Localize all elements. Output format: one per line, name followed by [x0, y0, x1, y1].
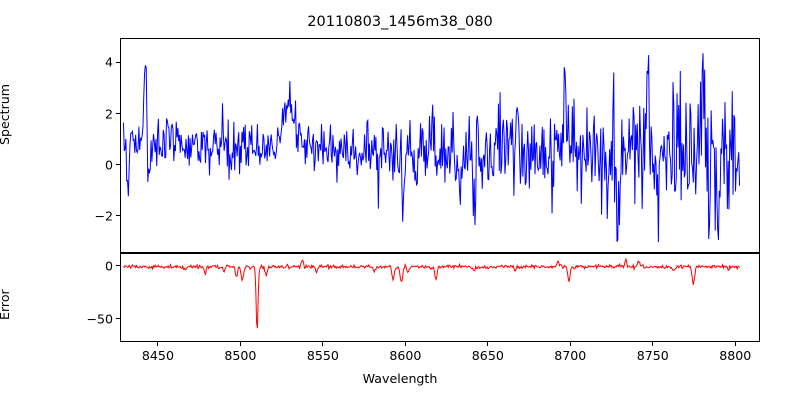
x-axis-label: Wavelength	[0, 371, 800, 386]
matplotlib-figure: 20110803_1456m38_080 420−20−508450850085…	[0, 0, 800, 400]
spectrum-ytick-label: 2	[58, 106, 113, 121]
spectrum-ytick-mark	[116, 164, 120, 165]
xtick-mark	[405, 342, 406, 346]
xtick-mark	[735, 342, 736, 346]
xtick-label: 8550	[307, 348, 339, 363]
xtick-mark	[570, 342, 571, 346]
xtick-label: 8600	[389, 348, 421, 363]
spectrum-ytick-label: 4	[58, 55, 113, 70]
xtick-label: 8650	[472, 348, 504, 363]
error-ytick-mark	[116, 265, 120, 266]
spectrum-ytick-mark	[116, 215, 120, 216]
xtick-mark	[487, 342, 488, 346]
error-ytick-mark	[116, 318, 120, 319]
xtick-label: 8700	[554, 348, 586, 363]
spectrum-y-axis-label: Spectrum	[0, 84, 12, 145]
error-ytick-label: −50	[58, 311, 113, 326]
spectrum-line-plot	[121, 39, 761, 254]
xtick-mark	[240, 342, 241, 346]
spectrum-ytick-label: 0	[58, 157, 113, 172]
xtick-label: 8450	[142, 348, 174, 363]
error-line-plot	[121, 254, 761, 343]
error-y-axis-label: Error	[0, 289, 12, 320]
spectrum-ytick-label: −2	[58, 208, 113, 223]
xtick-label: 8800	[719, 348, 751, 363]
xtick-mark	[322, 342, 323, 346]
xtick-label: 8750	[637, 348, 669, 363]
error-ytick-label: 0	[58, 258, 113, 273]
spectrum-ytick-mark	[116, 62, 120, 63]
xtick-mark	[157, 342, 158, 346]
xtick-label: 8500	[224, 348, 256, 363]
spectrum-ytick-mark	[116, 113, 120, 114]
error-axes	[120, 253, 760, 342]
xtick-mark	[652, 342, 653, 346]
spectrum-axes	[120, 38, 760, 253]
figure-title: 20110803_1456m38_080	[0, 14, 800, 30]
